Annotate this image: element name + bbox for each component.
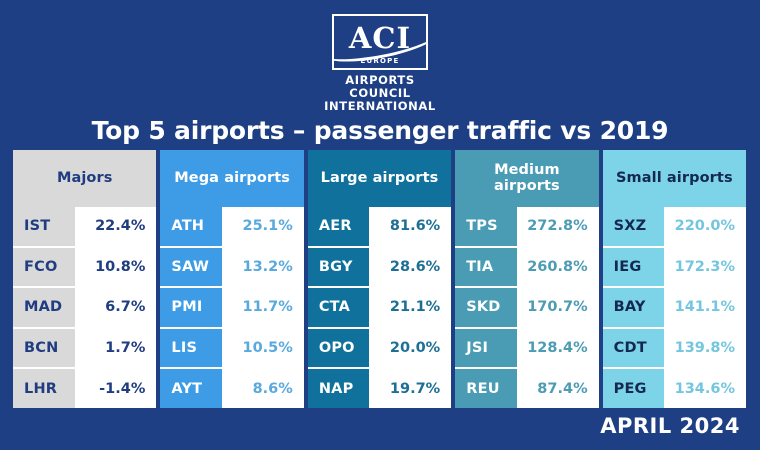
report-date: APRIL 2024 — [600, 414, 740, 438]
page-title: Top 5 airports – passenger traffic vs 20… — [0, 116, 760, 145]
column-header-majors: Majors — [13, 150, 156, 207]
column-header-mega: Mega airports — [160, 150, 303, 207]
airport-code: JSI — [455, 329, 517, 368]
airport-code: FCO — [13, 248, 75, 287]
airport-value: 10.5% — [222, 329, 304, 368]
table-row: IEG 172.3% — [603, 248, 746, 289]
brand-logo: ACI EUROPE AIRPORTS COUNCIL INTERNATIONA… — [0, 14, 760, 106]
airport-value: 22.4% — [75, 207, 157, 246]
logo-region-label: EUROPE — [334, 57, 426, 65]
airport-value: 134.6% — [664, 369, 746, 408]
airport-code: ATH — [160, 207, 222, 246]
column-group-large: Large airports AER 81.6% BGY 28.6% CTA 2… — [308, 150, 451, 408]
airport-code: MAD — [13, 288, 75, 327]
table-row: SXZ 220.0% — [603, 207, 746, 248]
airport-code: AYT — [160, 369, 222, 408]
table-row: LHR -1.4% — [13, 369, 156, 408]
table-row: BCN 1.7% — [13, 329, 156, 370]
airport-value: 87.4% — [517, 369, 599, 408]
table-row: AER 81.6% — [308, 207, 451, 248]
airport-value: 128.4% — [517, 329, 599, 368]
rows-large: AER 81.6% BGY 28.6% CTA 21.1% OPO 20.0% … — [308, 207, 451, 408]
airport-code: OPO — [308, 329, 370, 368]
logo-wordmark-line2: INTERNATIONAL — [316, 100, 444, 113]
airport-code: IEG — [603, 248, 665, 287]
table-row: REU 87.4% — [455, 369, 598, 408]
table-row: OPO 20.0% — [308, 329, 451, 370]
rows-medium: TPS 272.8% TIA 260.8% SKD 170.7% JSI 128… — [455, 207, 598, 408]
airport-value: 139.8% — [664, 329, 746, 368]
rows-small: SXZ 220.0% IEG 172.3% BAY 141.1% CDT 139… — [603, 207, 746, 408]
table-row: MAD 6.7% — [13, 288, 156, 329]
column-group-small: Small airports SXZ 220.0% IEG 172.3% BAY… — [603, 150, 746, 408]
airport-value: 272.8% — [517, 207, 599, 246]
airport-code: TPS — [455, 207, 517, 246]
airport-code: BAY — [603, 288, 665, 327]
table-row: CDT 139.8% — [603, 329, 746, 370]
airport-code: PMI — [160, 288, 222, 327]
table-row: FCO 10.8% — [13, 248, 156, 289]
table-row: SKD 170.7% — [455, 288, 598, 329]
table-row: ATH 25.1% — [160, 207, 303, 248]
table-row: IST 22.4% — [13, 207, 156, 248]
airport-value: 25.1% — [222, 207, 304, 246]
airports-table: Majors IST 22.4% FCO 10.8% MAD 6.7% BCN … — [13, 150, 746, 408]
airport-code: CTA — [308, 288, 370, 327]
airport-value: 19.7% — [369, 369, 451, 408]
airport-code: CDT — [603, 329, 665, 368]
airport-code: SAW — [160, 248, 222, 287]
airport-code: BGY — [308, 248, 370, 287]
airport-value: 260.8% — [517, 248, 599, 287]
rows-mega: ATH 25.1% SAW 13.2% PMI 11.7% LIS 10.5% … — [160, 207, 303, 408]
airport-value: 21.1% — [369, 288, 451, 327]
airport-code: TIA — [455, 248, 517, 287]
airport-value: 172.3% — [664, 248, 746, 287]
airport-value: 11.7% — [222, 288, 304, 327]
airport-value: 10.8% — [75, 248, 157, 287]
column-header-medium: Medium airports — [455, 150, 598, 207]
table-row: TIA 260.8% — [455, 248, 598, 289]
column-group-majors: Majors IST 22.4% FCO 10.8% MAD 6.7% BCN … — [13, 150, 156, 408]
column-group-medium: Medium airports TPS 272.8% TIA 260.8% SK… — [455, 150, 598, 408]
column-group-mega: Mega airports ATH 25.1% SAW 13.2% PMI 11… — [160, 150, 303, 408]
table-row: BGY 28.6% — [308, 248, 451, 289]
airport-value: -1.4% — [75, 369, 157, 408]
airport-code: AER — [308, 207, 370, 246]
table-row: PMI 11.7% — [160, 288, 303, 329]
airport-value: 141.1% — [664, 288, 746, 327]
column-header-small: Small airports — [603, 150, 746, 207]
logo-acronym: ACI — [349, 24, 411, 60]
table-row: AYT 8.6% — [160, 369, 303, 408]
logo-wordmark-line1: AIRPORTS COUNCIL — [316, 74, 444, 100]
table-row: CTA 21.1% — [308, 288, 451, 329]
airport-value: 20.0% — [369, 329, 451, 368]
table-row: TPS 272.8% — [455, 207, 598, 248]
rows-majors: IST 22.4% FCO 10.8% MAD 6.7% BCN 1.7% LH… — [13, 207, 156, 408]
airport-value: 28.6% — [369, 248, 451, 287]
airport-code: NAP — [308, 369, 370, 408]
airport-value: 8.6% — [222, 369, 304, 408]
logo-wordmark: AIRPORTS COUNCIL INTERNATIONAL — [316, 74, 444, 114]
table-row: PEG 134.6% — [603, 369, 746, 408]
airport-value: 6.7% — [75, 288, 157, 327]
logo-box: ACI EUROPE AIRPORTS COUNCIL INTERNATIONA… — [316, 14, 444, 114]
airport-code: BCN — [13, 329, 75, 368]
airport-code: REU — [455, 369, 517, 408]
airport-code: SKD — [455, 288, 517, 327]
airport-value: 1.7% — [75, 329, 157, 368]
airport-code: LHR — [13, 369, 75, 408]
table-row: BAY 141.1% — [603, 288, 746, 329]
airport-value: 220.0% — [664, 207, 746, 246]
column-header-large: Large airports — [308, 150, 451, 207]
aci-logo-icon: ACI EUROPE — [332, 14, 428, 70]
airport-value: 81.6% — [369, 207, 451, 246]
table-row: LIS 10.5% — [160, 329, 303, 370]
airport-code: PEG — [603, 369, 665, 408]
airport-code: IST — [13, 207, 75, 246]
table-row: JSI 128.4% — [455, 329, 598, 370]
airport-value: 170.7% — [517, 288, 599, 327]
table-row: NAP 19.7% — [308, 369, 451, 408]
airport-code: SXZ — [603, 207, 665, 246]
airport-code: LIS — [160, 329, 222, 368]
airport-value: 13.2% — [222, 248, 304, 287]
table-row: SAW 13.2% — [160, 248, 303, 289]
